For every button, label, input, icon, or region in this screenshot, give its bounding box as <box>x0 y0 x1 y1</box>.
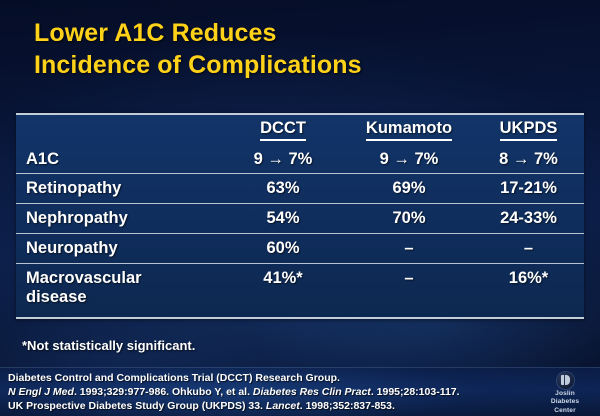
cell-a1c-dcct: 9 → 7% <box>221 145 345 174</box>
citation-line-2-mid: . 1993;329:977-986. Ohkubo Y, et al. <box>74 386 253 398</box>
column-header-kumamoto-label: Kumamoto <box>366 119 452 140</box>
footnote-text: *Not statistically significant. <box>22 338 195 353</box>
complications-table-container: DCCT Kumamoto UKPDS A1C 9 → 7% 9 → 7% 8 … <box>16 113 584 319</box>
citation-line-2: N Engl J Med. 1993;329:977-986. Ohkubo Y… <box>8 386 528 400</box>
row-label-neuropathy: Neuropathy <box>16 234 221 264</box>
citation-line-2-end: . 1995;28:103-117. <box>371 386 460 398</box>
cell-nephropathy-dcct: 54% <box>221 204 345 234</box>
table-row-nephropathy: Nephropathy 54% 70% 24-33% <box>16 204 584 234</box>
joslin-logo-line-1: Joslin <box>536 390 594 398</box>
cell-retinopathy-ukpds: 17-21% <box>473 174 584 204</box>
citation-journal-drcp: Diabetes Res Clin Pract <box>253 386 371 398</box>
cell-neuropathy-kumamoto: – <box>345 234 473 264</box>
joslin-logo-line-3: Center <box>536 407 594 415</box>
column-header-kumamoto: Kumamoto <box>345 115 473 145</box>
citation-line-3-end: . 1998;352:837-853. <box>300 400 395 412</box>
cell-neuropathy-ukpds: – <box>473 234 584 264</box>
column-header-ukpds-label: UKPDS <box>500 119 558 140</box>
complications-table: DCCT Kumamoto UKPDS A1C 9 → 7% 9 → 7% 8 … <box>16 115 584 317</box>
table-row-neuropathy: Neuropathy 60% – – <box>16 234 584 264</box>
table-row-macrovascular-disease: Macrovascular disease 41%* – 16%* <box>16 264 584 318</box>
cell-neuropathy-dcct: 60% <box>221 234 345 264</box>
joslin-logo-icon <box>557 372 574 389</box>
row-label-macrovascular-disease: Macrovascular disease <box>16 264 221 318</box>
column-header-blank <box>16 115 221 145</box>
joslin-diabetes-center-logo: Joslin Diabetes Center <box>536 370 594 414</box>
joslin-logo-text: Joslin Diabetes Center <box>536 390 594 415</box>
cell-nephropathy-ukpds: 24-33% <box>473 204 584 234</box>
cell-a1c-kumamoto: 9 → 7% <box>345 145 473 174</box>
cell-macrovascular-kumamoto: – <box>345 264 473 318</box>
citation-line-3: UK Prospective Diabetes Study Group (UKP… <box>8 400 528 414</box>
row-label-a1c: A1C <box>16 145 221 174</box>
footer-band: Diabetes Control and Complications Trial… <box>0 367 600 416</box>
citation-block: Diabetes Control and Complications Trial… <box>8 372 528 414</box>
table-row-a1c: A1C 9 → 7% 9 → 7% 8 → 7% <box>16 145 584 174</box>
cell-retinopathy-kumamoto: 69% <box>345 174 473 204</box>
cell-nephropathy-kumamoto: 70% <box>345 204 473 234</box>
citation-line-3-start: UK Prospective Diabetes Study Group (UKP… <box>8 400 266 412</box>
cell-a1c-ukpds: 8 → 7% <box>473 145 584 174</box>
row-label-macrovascular-line-1: Macrovascular <box>26 269 221 288</box>
table-row-retinopathy: Retinopathy 63% 69% 17-21% <box>16 174 584 204</box>
slide-title-line-2: Incidence of Complications <box>34 50 574 82</box>
cell-macrovascular-ukpds: 16%* <box>473 264 584 318</box>
column-header-ukpds: UKPDS <box>473 115 584 145</box>
cell-macrovascular-dcct: 41%* <box>221 264 345 318</box>
column-header-dcct: DCCT <box>221 115 345 145</box>
column-header-dcct-label: DCCT <box>260 119 306 140</box>
citation-line-1: Diabetes Control and Complications Trial… <box>8 372 528 386</box>
presentation-slide: Lower A1C Reduces Incidence of Complicat… <box>0 0 600 416</box>
cell-retinopathy-dcct: 63% <box>221 174 345 204</box>
slide-title-line-1: Lower A1C Reduces <box>34 18 574 50</box>
row-label-nephropathy: Nephropathy <box>16 204 221 234</box>
row-label-retinopathy: Retinopathy <box>16 174 221 204</box>
row-label-macrovascular-line-2: disease <box>26 288 221 307</box>
table-header-row: DCCT Kumamoto UKPDS <box>16 115 584 145</box>
joslin-logo-line-2: Diabetes <box>536 398 594 406</box>
slide-title: Lower A1C Reduces Incidence of Complicat… <box>34 18 574 81</box>
citation-journal-nejm: N Engl J Med <box>8 386 74 398</box>
citation-journal-lancet: Lancet <box>266 400 300 412</box>
